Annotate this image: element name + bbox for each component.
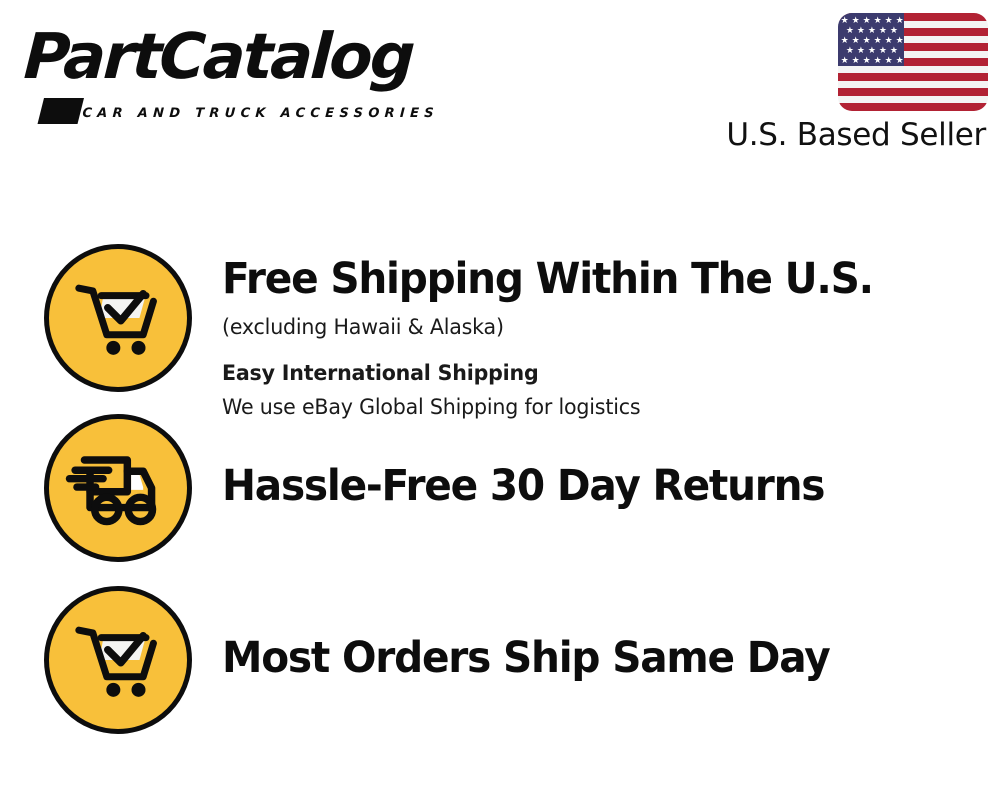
flag-star: ★ bbox=[885, 36, 893, 45]
flag-star: ★ bbox=[896, 36, 904, 45]
flag-star: ★ bbox=[879, 26, 887, 35]
flag-stripe bbox=[838, 96, 988, 104]
flag-star: ★ bbox=[852, 16, 860, 25]
flag-star: ★ bbox=[846, 26, 854, 35]
shopping-cart-check-icon bbox=[44, 586, 192, 734]
flag-stripe bbox=[838, 103, 988, 111]
flag-star: ★ bbox=[863, 56, 871, 65]
page-header: PartCatalog CAR AND TRUCK ACCESSORIES ★★… bbox=[0, 0, 1000, 170]
flag-star: ★ bbox=[896, 16, 904, 25]
flag-star: ★ bbox=[874, 56, 882, 65]
feature-heading: Hassle-Free 30 Day Returns bbox=[222, 461, 940, 511]
flag-stripe bbox=[838, 66, 988, 74]
feature-row: Most Orders Ship Same Day bbox=[0, 586, 1000, 746]
flag-star: ★ bbox=[852, 36, 860, 45]
flag-star: ★ bbox=[885, 56, 893, 65]
flag-canton: ★★★★★★★★★★★★★★★★★★★★★★★★★★★★ bbox=[838, 13, 904, 66]
brand-logo[interactable]: PartCatalog CAR AND TRUCK ACCESSORIES bbox=[22, 18, 492, 110]
flag-star: ★ bbox=[896, 56, 904, 65]
us-flag-icon: ★★★★★★★★★★★★★★★★★★★★★★★★★★★★ bbox=[838, 13, 988, 111]
flag-star: ★ bbox=[890, 46, 898, 55]
flag-star: ★ bbox=[841, 36, 849, 45]
flag-stripe bbox=[838, 73, 988, 81]
flag-star: ★ bbox=[874, 36, 882, 45]
feature-heading: Free Shipping Within The U.S. bbox=[222, 254, 940, 304]
feature-text-block: Free Shipping Within The U.S. (excluding… bbox=[222, 244, 982, 424]
flag-star: ★ bbox=[885, 16, 893, 25]
flag-star: ★ bbox=[874, 16, 882, 25]
flag-star: ★ bbox=[890, 26, 898, 35]
flag-star: ★ bbox=[868, 46, 876, 55]
logo-accent-stroke bbox=[38, 98, 84, 124]
flag-star: ★ bbox=[852, 56, 860, 65]
brand-tagline: CAR AND TRUCK ACCESSORIES bbox=[82, 106, 439, 121]
flag-star: ★ bbox=[841, 16, 849, 25]
feature-row: Free Shipping Within The U.S. (excluding… bbox=[0, 244, 1000, 424]
flag-star: ★ bbox=[841, 56, 849, 65]
flag-star: ★ bbox=[868, 26, 876, 35]
flag-star: ★ bbox=[857, 46, 865, 55]
feature-text-block: Hassle-Free 30 Day Returns bbox=[222, 414, 982, 511]
feature-heading: Most Orders Ship Same Day bbox=[222, 633, 940, 683]
flag-star: ★ bbox=[846, 46, 854, 55]
feature-text-block: Most Orders Ship Same Day bbox=[222, 586, 982, 683]
brand-wordmark: PartCatalog bbox=[22, 18, 415, 96]
feature-row: Hassle-Free 30 Day Returns bbox=[0, 414, 1000, 574]
feature-subtext-exclusion: (excluding Hawaii & Alaska) bbox=[222, 310, 967, 344]
flag-star: ★ bbox=[863, 36, 871, 45]
flag-stripe bbox=[838, 88, 988, 96]
delivery-truck-icon bbox=[44, 414, 192, 562]
flag-star: ★ bbox=[863, 16, 871, 25]
feature-subtext-international-title: Easy International Shipping bbox=[222, 356, 967, 390]
us-based-seller-label: U.S. Based Seller bbox=[726, 117, 986, 153]
flag-stripe bbox=[838, 81, 988, 89]
shopping-cart-check-icon bbox=[44, 244, 192, 392]
flag-star: ★ bbox=[879, 46, 887, 55]
flag-star: ★ bbox=[857, 26, 865, 35]
